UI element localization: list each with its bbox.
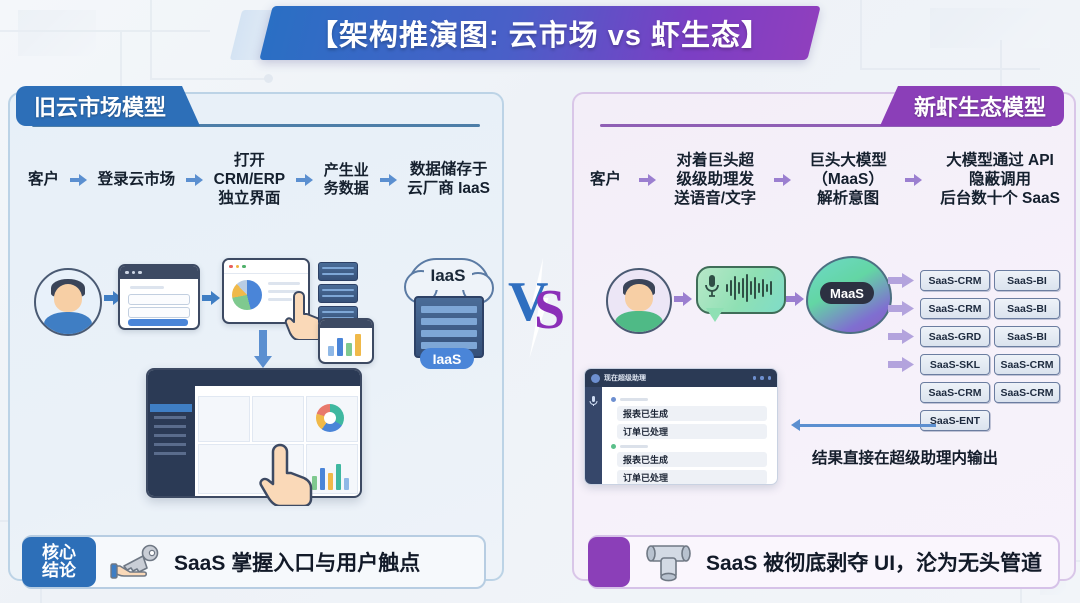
saas-badge[interactable]: SaaS-CRM [920,298,990,319]
arrow-right-icon [186,173,203,187]
chat-sidebar [585,387,602,484]
chat-status-dot [611,444,616,449]
arrow-right-icon [380,173,397,187]
customer-avatar-right [606,268,672,334]
title-banner: 【架构推演图: 云市场 vs 虾生态】 [248,6,824,64]
dashboard-sidebar [148,386,195,496]
saas-badge[interactable]: SaaS-CRM [920,270,990,291]
left-flow-step-3: 打开 CRM/ERP 独立界面 [214,152,285,209]
left-conclusion-text: SaaS 掌握入口与用户触点 [174,547,420,577]
server-stack-icon [318,262,358,319]
infographic-canvas: 【架构推演图: 云市场 vs 虾生态】 旧云市场模型 客户 登录云市场 打开 C… [0,0,1080,603]
arrow-right-icon [888,328,914,345]
arrow-right-icon [202,290,220,306]
arrow-down-icon [254,330,272,370]
page-title: 【架构推演图: 云市场 vs 虾生态】 [266,6,814,60]
assistant-avatar-icon [591,374,600,383]
microphone-icon [589,395,598,407]
right-flow-step-4: 大模型通过 API 隐蔽调用 后台数十个 SaaS [940,152,1060,209]
saas-badge[interactable]: SaaS-GRD [920,326,990,347]
chat-message: 报表已生成 [617,452,767,467]
microphone-icon [704,274,720,300]
window-titlebar [120,266,198,279]
donut-chart-icon [316,404,344,432]
saas-badge[interactable]: SaaS-BI [994,270,1060,291]
avatar-face [54,284,82,312]
conclusion-tag: 核心 结论 [22,537,96,587]
assistant-chat-mock: 现在超级助理 报表已生成 订单已处理 报表已生成 订单已处理 [584,368,778,485]
result-flow-arrow [800,424,936,427]
avatar-body [44,312,93,336]
left-conclusion-bar: 核心 结论 SaaS 掌握入口与用户触点 [22,535,486,589]
maas-label: MaaS [820,282,874,304]
avatar-body [615,311,662,334]
saas-badge[interactable]: SaaS-ENT [920,410,990,431]
right-conclusion-text: SaaS 被彻底剥夺 UI，沦为无头管道 [706,547,1042,577]
chat-message: 订单已处理 [617,470,767,485]
bubble-tail [706,308,724,322]
chat-titlebar: 现在超级助理 [585,369,777,387]
left-flow-step-1: 客户 [28,171,59,190]
saas-badge[interactable]: SaaS-BI [994,298,1060,319]
right-flow-step-1: 客户 [590,171,621,190]
right-panel-tab-label: 新虾生态模型 [914,90,1046,122]
window-titlebar [224,260,308,274]
iaas-pill-label: IaaS [420,348,474,369]
arrow-right-icon [888,300,914,317]
arrow-right-icon [888,356,914,373]
saas-badge[interactable]: SaaS-CRM [994,354,1060,375]
arrow-right-icon [296,173,313,187]
saas-badge[interactable]: SaaS-BI [994,326,1060,347]
dashboard-header [148,370,360,386]
saas-badge[interactable]: SaaS-CRM [994,382,1060,403]
right-conclusion-bar: SaaS 被彻底剥夺 UI，沦为无头管道 [588,535,1060,589]
login-window-mock [118,264,200,330]
arrow-right-icon [905,173,922,187]
chat-title: 现在超级助理 [604,373,646,383]
arrow-right-icon [674,291,692,307]
admin-dashboard-mock [146,368,362,498]
pie-chart-icon [232,280,262,310]
right-panel-tab[interactable]: 新虾生态模型 [880,86,1064,126]
left-flow-step-2: 登录云市场 [98,171,176,190]
saas-badge[interactable]: SaaS-SKL [920,354,990,375]
analytics-window-mock [318,318,374,364]
arrow-right-icon [786,291,804,307]
chat-message: 报表已生成 [617,406,767,421]
left-flow-step-5: 数据储存于 云厂商 IaaS [407,161,490,199]
key-in-hand-icon [110,544,164,580]
right-flow-step-2: 对着巨头超 级级助理发 送语音/文字 [674,152,756,209]
pointing-hand-icon [258,440,314,506]
left-flow-labels: 客户 登录云市场 打开 CRM/ERP 独立界面 产生业 务数据 数据储存于 云… [28,152,490,209]
left-panel-tab[interactable]: 旧云市场模型 [16,86,200,126]
saas-badge[interactable]: SaaS-CRM [920,382,990,403]
pipe-icon [644,542,696,582]
chat-status-dot [611,397,616,402]
arrow-right-icon [774,173,791,187]
arrow-right-icon [639,173,656,187]
chat-message: 订单已处理 [617,424,767,439]
arrow-right-icon [888,272,914,289]
avatar-face [625,284,652,311]
right-flow-step-3: 巨头大模型 （MaaS） 解析意图 [809,152,887,209]
conclusion-tag-accent [588,537,630,587]
result-text: 结果直接在超级助理内输出 [812,446,998,468]
right-flow-labels: 客户 对着巨头超 级级助理发 送语音/文字 巨头大模型 （MaaS） 解析意图 … [590,152,1060,209]
left-flow-step-4: 产生业 务数据 [324,162,369,199]
left-panel-tab-label: 旧云市场模型 [34,90,166,122]
vs-letter-s: S [534,278,565,342]
result-flow-arrowhead [791,419,800,431]
cloud-label: IaaS [408,266,488,286]
customer-avatar-left [34,268,102,336]
arrow-right-icon [70,173,87,187]
vs-divider: V S [508,262,572,354]
window-titlebar [320,320,372,328]
